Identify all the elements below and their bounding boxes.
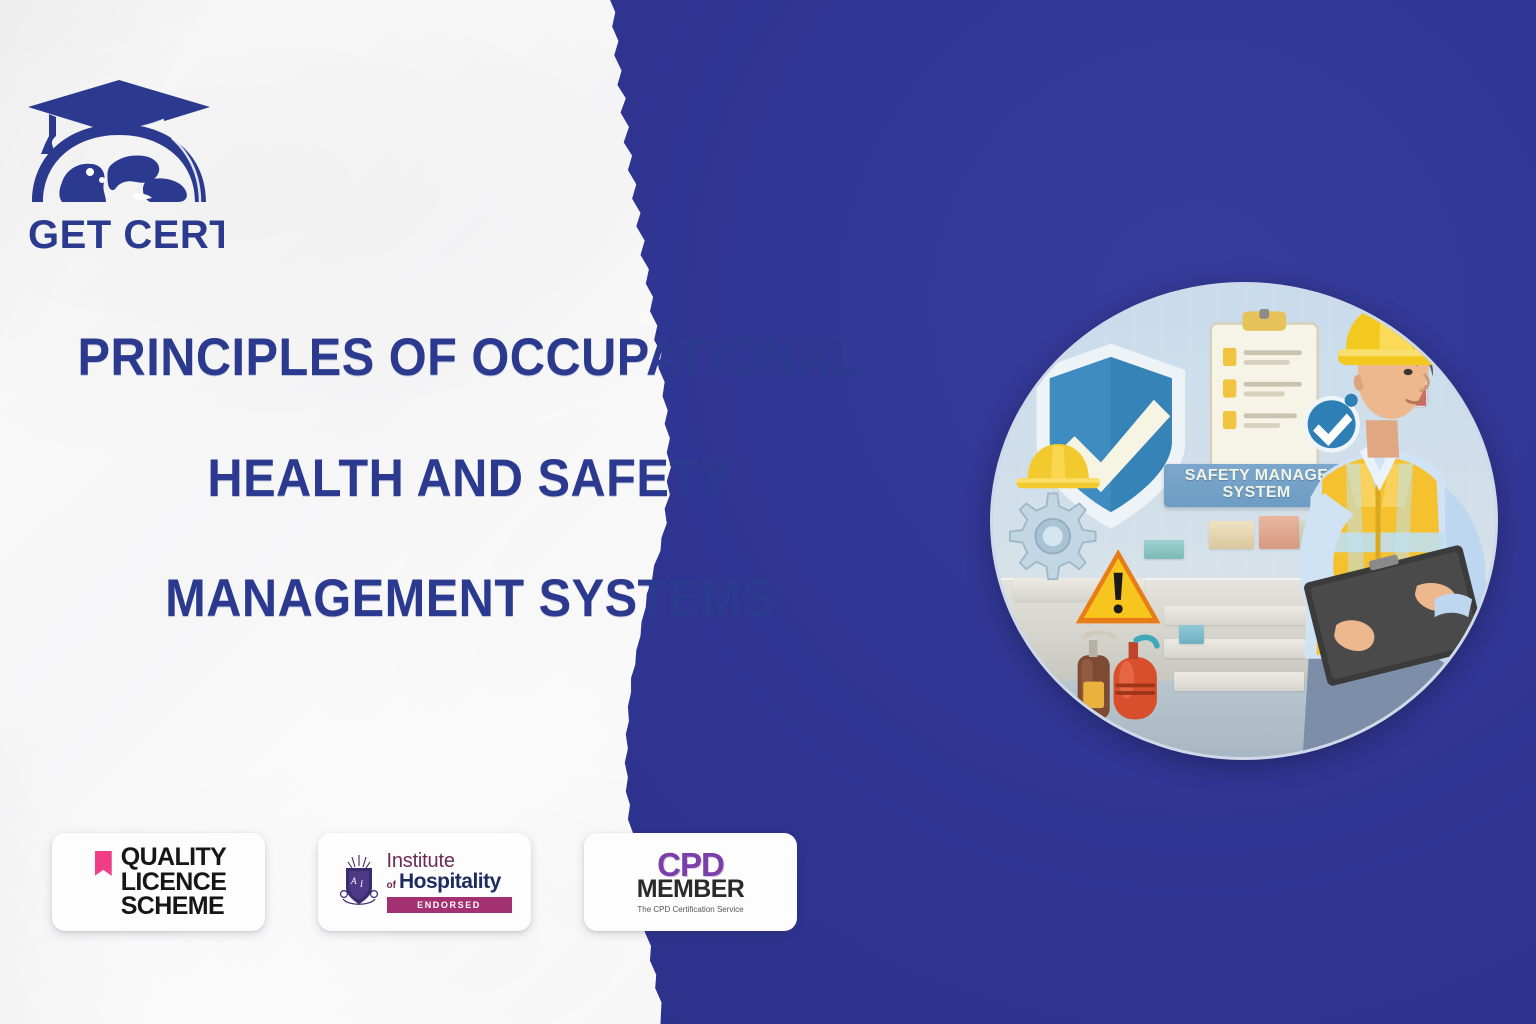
slide-canvas: GET CERTIFY PRINCIPLES OF OCCUPATIONAL H… — [0, 0, 1536, 1024]
warning-triangle-icon — [1073, 540, 1163, 634]
ioh-of-text: of — [387, 880, 396, 891]
badge-quality-licence-scheme[interactable]: QUALITY LICENCE SCHEME — [52, 833, 265, 931]
qls-line-3: SCHEME — [121, 894, 227, 919]
title-line-2: HEALTH AND SAFETY — [38, 451, 903, 507]
safety-worker-illustration — [1249, 304, 1498, 757]
box-1 — [1209, 521, 1254, 549]
box-5 — [1179, 625, 1204, 644]
cpd-subtitle: The CPD Certification Service — [637, 905, 745, 914]
svg-text:A: A — [350, 876, 357, 886]
ioh-institute-text: Institute — [387, 851, 512, 871]
logo-wordmark: GET CERTIFY — [28, 213, 224, 257]
qls-line-2: LICENCE — [121, 870, 227, 895]
cpd-member-text: MEMBER — [637, 877, 745, 902]
badge-institute-of-hospitality[interactable]: AI Institute of Hospitality ENDORSED — [318, 833, 531, 931]
ioh-hospitality-text: Hospitality — [399, 871, 501, 892]
title-line-3: MANAGEMENT SYSTEMS — [38, 571, 903, 627]
bookmark-icon — [95, 851, 112, 876]
fire-extinguisher-icon — [1063, 625, 1173, 729]
page-title: PRINCIPLES OF OCCUPATIONAL HEALTH AND SA… — [0, 330, 940, 627]
heraldic-crest-icon: AI — [338, 854, 380, 910]
accreditation-badges: QUALITY LICENCE SCHEME — [52, 833, 797, 931]
ioh-endorsed-ribbon: ENDORSED — [387, 897, 512, 913]
qls-line-1: QUALITY — [121, 845, 227, 870]
hero-illustration: SAFETY MANAGE SYSTEM — [993, 285, 1495, 757]
hero-image-circle: SAFETY MANAGE SYSTEM — [990, 282, 1498, 760]
title-line-1: PRINCIPLES OF OCCUPATIONAL — [38, 330, 903, 386]
brand-logo[interactable]: GET CERTIFY — [14, 62, 224, 257]
badge-cpd-member[interactable]: CPD MEMBER The CPD Certification Service — [584, 833, 797, 931]
